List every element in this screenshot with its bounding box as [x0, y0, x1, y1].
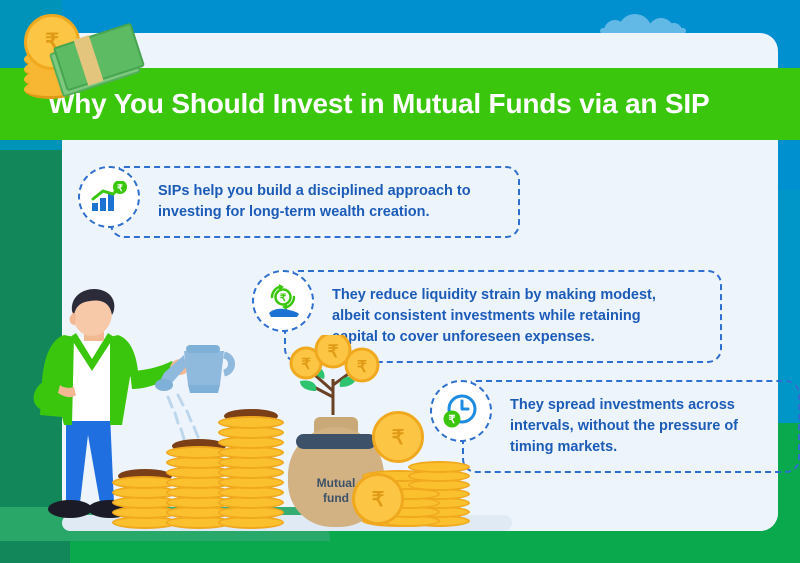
infographic-canvas: Why You Should Invest in Mutual Funds vi… — [0, 0, 800, 563]
point-bubble-1: SIPs help you build a disciplined approa… — [110, 166, 520, 238]
page-title: Why You Should Invest in Mutual Funds vi… — [48, 88, 709, 120]
rupee-coin-icon: ₹ — [372, 411, 424, 463]
growth-chart-rupee-icon: ₹ — [78, 166, 140, 228]
svg-text:₹: ₹ — [280, 293, 287, 304]
svg-text:₹: ₹ — [328, 342, 339, 361]
cloud-icon — [600, 14, 686, 34]
svg-text:₹: ₹ — [449, 414, 456, 426]
coins-and-banknote-illustration: ₹ — [2, 4, 132, 96]
svg-text:₹: ₹ — [301, 356, 311, 373]
point-text-1: SIPs help you build a disciplined approa… — [158, 181, 498, 223]
svg-text:₹: ₹ — [117, 183, 123, 193]
point-bubble-3: They spread investments across intervals… — [462, 380, 800, 473]
point-row-3: ₹ They spread investments across interva… — [430, 380, 800, 473]
coin-tree-icon: ₹ ₹ ₹ — [278, 335, 388, 415]
svg-text:₹: ₹ — [357, 359, 367, 376]
point-row-1: ₹ SIPs help you build a disciplined appr… — [78, 166, 520, 238]
bag-tie — [296, 434, 376, 449]
rupee-coin-icon: ₹ — [352, 473, 404, 525]
hand-rupee-recycle-icon: ₹ — [252, 270, 314, 332]
point-text-3: They spread investments across intervals… — [510, 395, 778, 458]
clock-rupee-icon: ₹ — [430, 380, 492, 442]
